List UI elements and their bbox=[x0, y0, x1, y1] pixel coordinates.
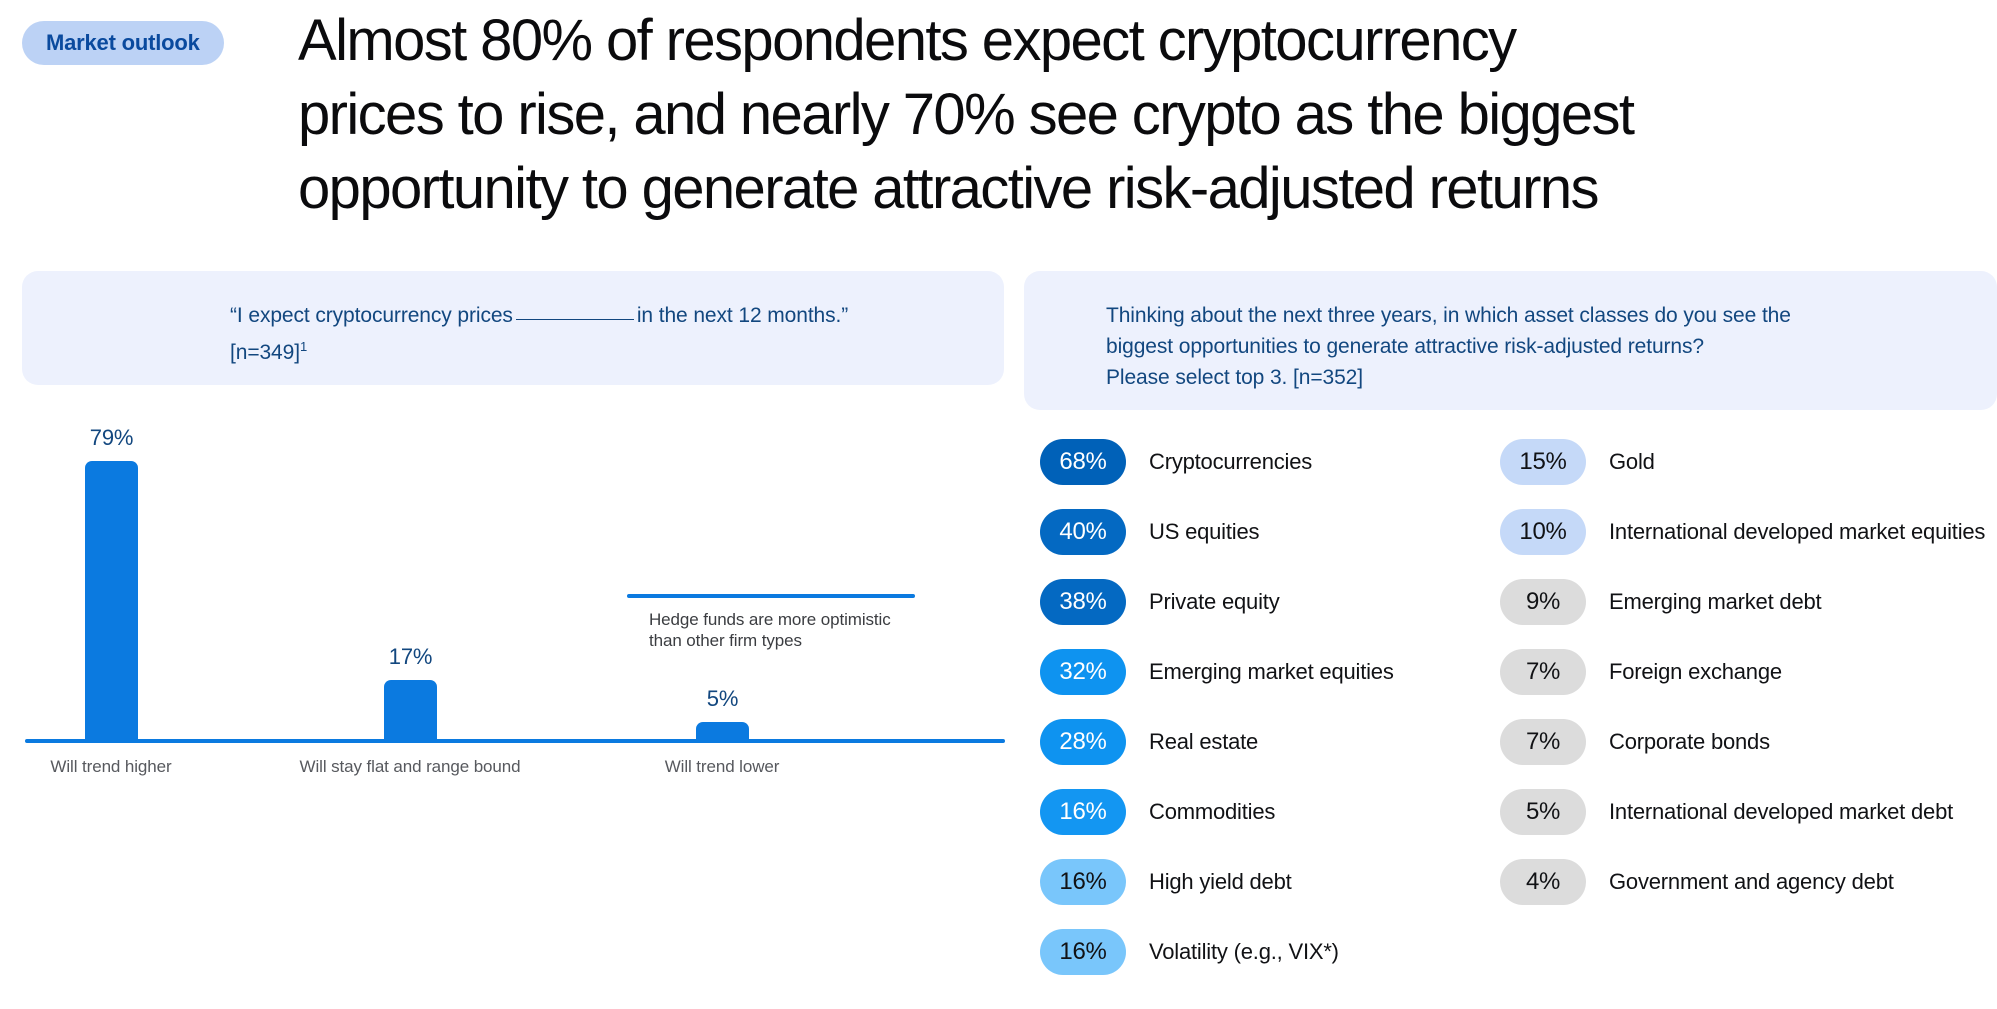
asset-class-label: Volatility (e.g., VIX*) bbox=[1149, 938, 1339, 965]
asset-class-percent-pill: 9% bbox=[1500, 579, 1586, 625]
asset-class-label: Government and agency debt bbox=[1609, 868, 1894, 895]
chart-category-label: Will stay flat and range bound bbox=[300, 757, 521, 777]
asset-class-label: Real estate bbox=[1149, 728, 1258, 755]
asset-class-row: 4%Government and agency debt bbox=[1500, 854, 1997, 909]
asset-class-row: 7%Corporate bonds bbox=[1500, 714, 1997, 769]
asset-class-percent-pill: 15% bbox=[1500, 439, 1586, 485]
headline-line-1: Almost 80% of respondents expect cryptoc… bbox=[298, 4, 1997, 78]
asset-class-percent-pill: 7% bbox=[1500, 719, 1586, 765]
headline-line-2: prices to rise, and nearly 70% see crypt… bbox=[298, 78, 1997, 152]
asset-class-percent-pill: 16% bbox=[1040, 929, 1126, 975]
asset-class-row: 28%Real estate bbox=[1040, 714, 1500, 769]
asset-class-percent-pill: 10% bbox=[1500, 509, 1586, 555]
chart-plot-area: 79%17%5% bbox=[0, 400, 1010, 740]
asset-class-label: Emerging market debt bbox=[1609, 588, 1821, 615]
asset-class-label: Corporate bonds bbox=[1609, 728, 1770, 755]
annotation-rule bbox=[627, 594, 915, 598]
fill-in-blank-rule bbox=[516, 319, 634, 320]
page-title: Almost 80% of respondents expect cryptoc… bbox=[298, 4, 1997, 226]
asset-class-label: Commodities bbox=[1149, 798, 1275, 825]
chart-bar bbox=[696, 722, 749, 740]
asset-class-label: High yield debt bbox=[1149, 868, 1292, 895]
asset-class-row: 16%Volatility (e.g., VIX*) bbox=[1040, 924, 1500, 979]
asset-class-label: Foreign exchange bbox=[1609, 658, 1782, 685]
asset-class-row: 68%Cryptocurrencies bbox=[1040, 434, 1500, 489]
headline-line-3: opportunity to generate attractive risk-… bbox=[298, 152, 1997, 226]
asset-class-column-1: 68%Cryptocurrencies40%US equities38%Priv… bbox=[1040, 434, 1500, 994]
market-outlook-badge: Market outlook bbox=[22, 21, 224, 65]
right-question-line-2: biggest opportunities to generate attrac… bbox=[1106, 331, 1936, 362]
bar-value-label: 17% bbox=[389, 644, 432, 670]
asset-class-row: 7%Foreign exchange bbox=[1500, 644, 1997, 699]
asset-class-row: 10%International developed market equiti… bbox=[1500, 504, 1997, 559]
chart-x-axis bbox=[25, 739, 1005, 743]
annotation-text: Hedge funds are more optimistic than oth… bbox=[627, 609, 917, 651]
left-question-text: “I expect cryptocurrency pricesin the ne… bbox=[230, 300, 870, 368]
page-header: Market outlook Almost 80% of respondents… bbox=[0, 0, 1997, 250]
asset-class-percent-pill: 68% bbox=[1040, 439, 1126, 485]
right-question-line-1: Thinking about the next three years, in … bbox=[1106, 300, 1936, 331]
asset-class-row: 38%Private equity bbox=[1040, 574, 1500, 629]
chart-bar-group: 79% bbox=[85, 425, 138, 740]
asset-class-label: International developed market debt bbox=[1609, 798, 1953, 825]
asset-class-percent-pill: 16% bbox=[1040, 859, 1126, 905]
asset-class-panel: 68%Cryptocurrencies40%US equities38%Priv… bbox=[1040, 434, 1997, 1009]
chart-bar bbox=[85, 461, 138, 740]
asset-class-percent-pill: 7% bbox=[1500, 649, 1586, 695]
asset-class-row: 32%Emerging market equities bbox=[1040, 644, 1500, 699]
asset-class-percent-pill: 5% bbox=[1500, 789, 1586, 835]
asset-class-label: Private equity bbox=[1149, 588, 1280, 615]
footnote-marker: 1 bbox=[300, 339, 307, 354]
bar-value-label: 5% bbox=[707, 686, 738, 712]
chart-category-label: Will trend higher bbox=[50, 757, 171, 777]
asset-class-percent-pill: 40% bbox=[1040, 509, 1126, 555]
left-question-box: “I expect cryptocurrency pricesin the ne… bbox=[22, 271, 1004, 385]
asset-class-label: International developed market equities bbox=[1609, 518, 1985, 545]
chart-bar-group: 5% bbox=[696, 686, 749, 740]
asset-class-row: 16%Commodities bbox=[1040, 784, 1500, 839]
asset-class-row: 5%International developed market debt bbox=[1500, 784, 1997, 839]
left-question-prefix: “I expect cryptocurrency prices bbox=[230, 304, 513, 327]
right-question-box: Thinking about the next three years, in … bbox=[1024, 271, 1997, 410]
asset-class-row: 16%High yield debt bbox=[1040, 854, 1500, 909]
right-question-line-3: Please select top 3. [n=352] bbox=[1106, 362, 1936, 393]
asset-class-label: US equities bbox=[1149, 518, 1259, 545]
asset-class-percent-pill: 4% bbox=[1500, 859, 1586, 905]
asset-class-percent-pill: 38% bbox=[1040, 579, 1126, 625]
asset-class-label: Emerging market equities bbox=[1149, 658, 1394, 685]
chart-category-label: Will trend lower bbox=[665, 757, 780, 777]
chart-bar bbox=[384, 680, 437, 740]
right-question-text: Thinking about the next three years, in … bbox=[1106, 300, 1936, 393]
expectation-bar-chart: 79%17%5% Hedge funds are more optimistic… bbox=[0, 400, 1010, 1009]
asset-class-label: Gold bbox=[1609, 448, 1655, 475]
asset-class-percent-pill: 28% bbox=[1040, 719, 1126, 765]
asset-class-row: 9%Emerging market debt bbox=[1500, 574, 1997, 629]
bar-value-label: 79% bbox=[90, 425, 133, 451]
asset-class-row: 40%US equities bbox=[1040, 504, 1500, 559]
chart-bar-group: 17% bbox=[384, 644, 437, 740]
asset-class-label: Cryptocurrencies bbox=[1149, 448, 1312, 475]
asset-class-row: 15%Gold bbox=[1500, 434, 1997, 489]
asset-class-percent-pill: 32% bbox=[1040, 649, 1126, 695]
chart-annotation: Hedge funds are more optimistic than oth… bbox=[627, 594, 917, 651]
asset-class-percent-pill: 16% bbox=[1040, 789, 1126, 835]
asset-class-column-2: 15%Gold10%International developed market… bbox=[1500, 434, 1997, 924]
